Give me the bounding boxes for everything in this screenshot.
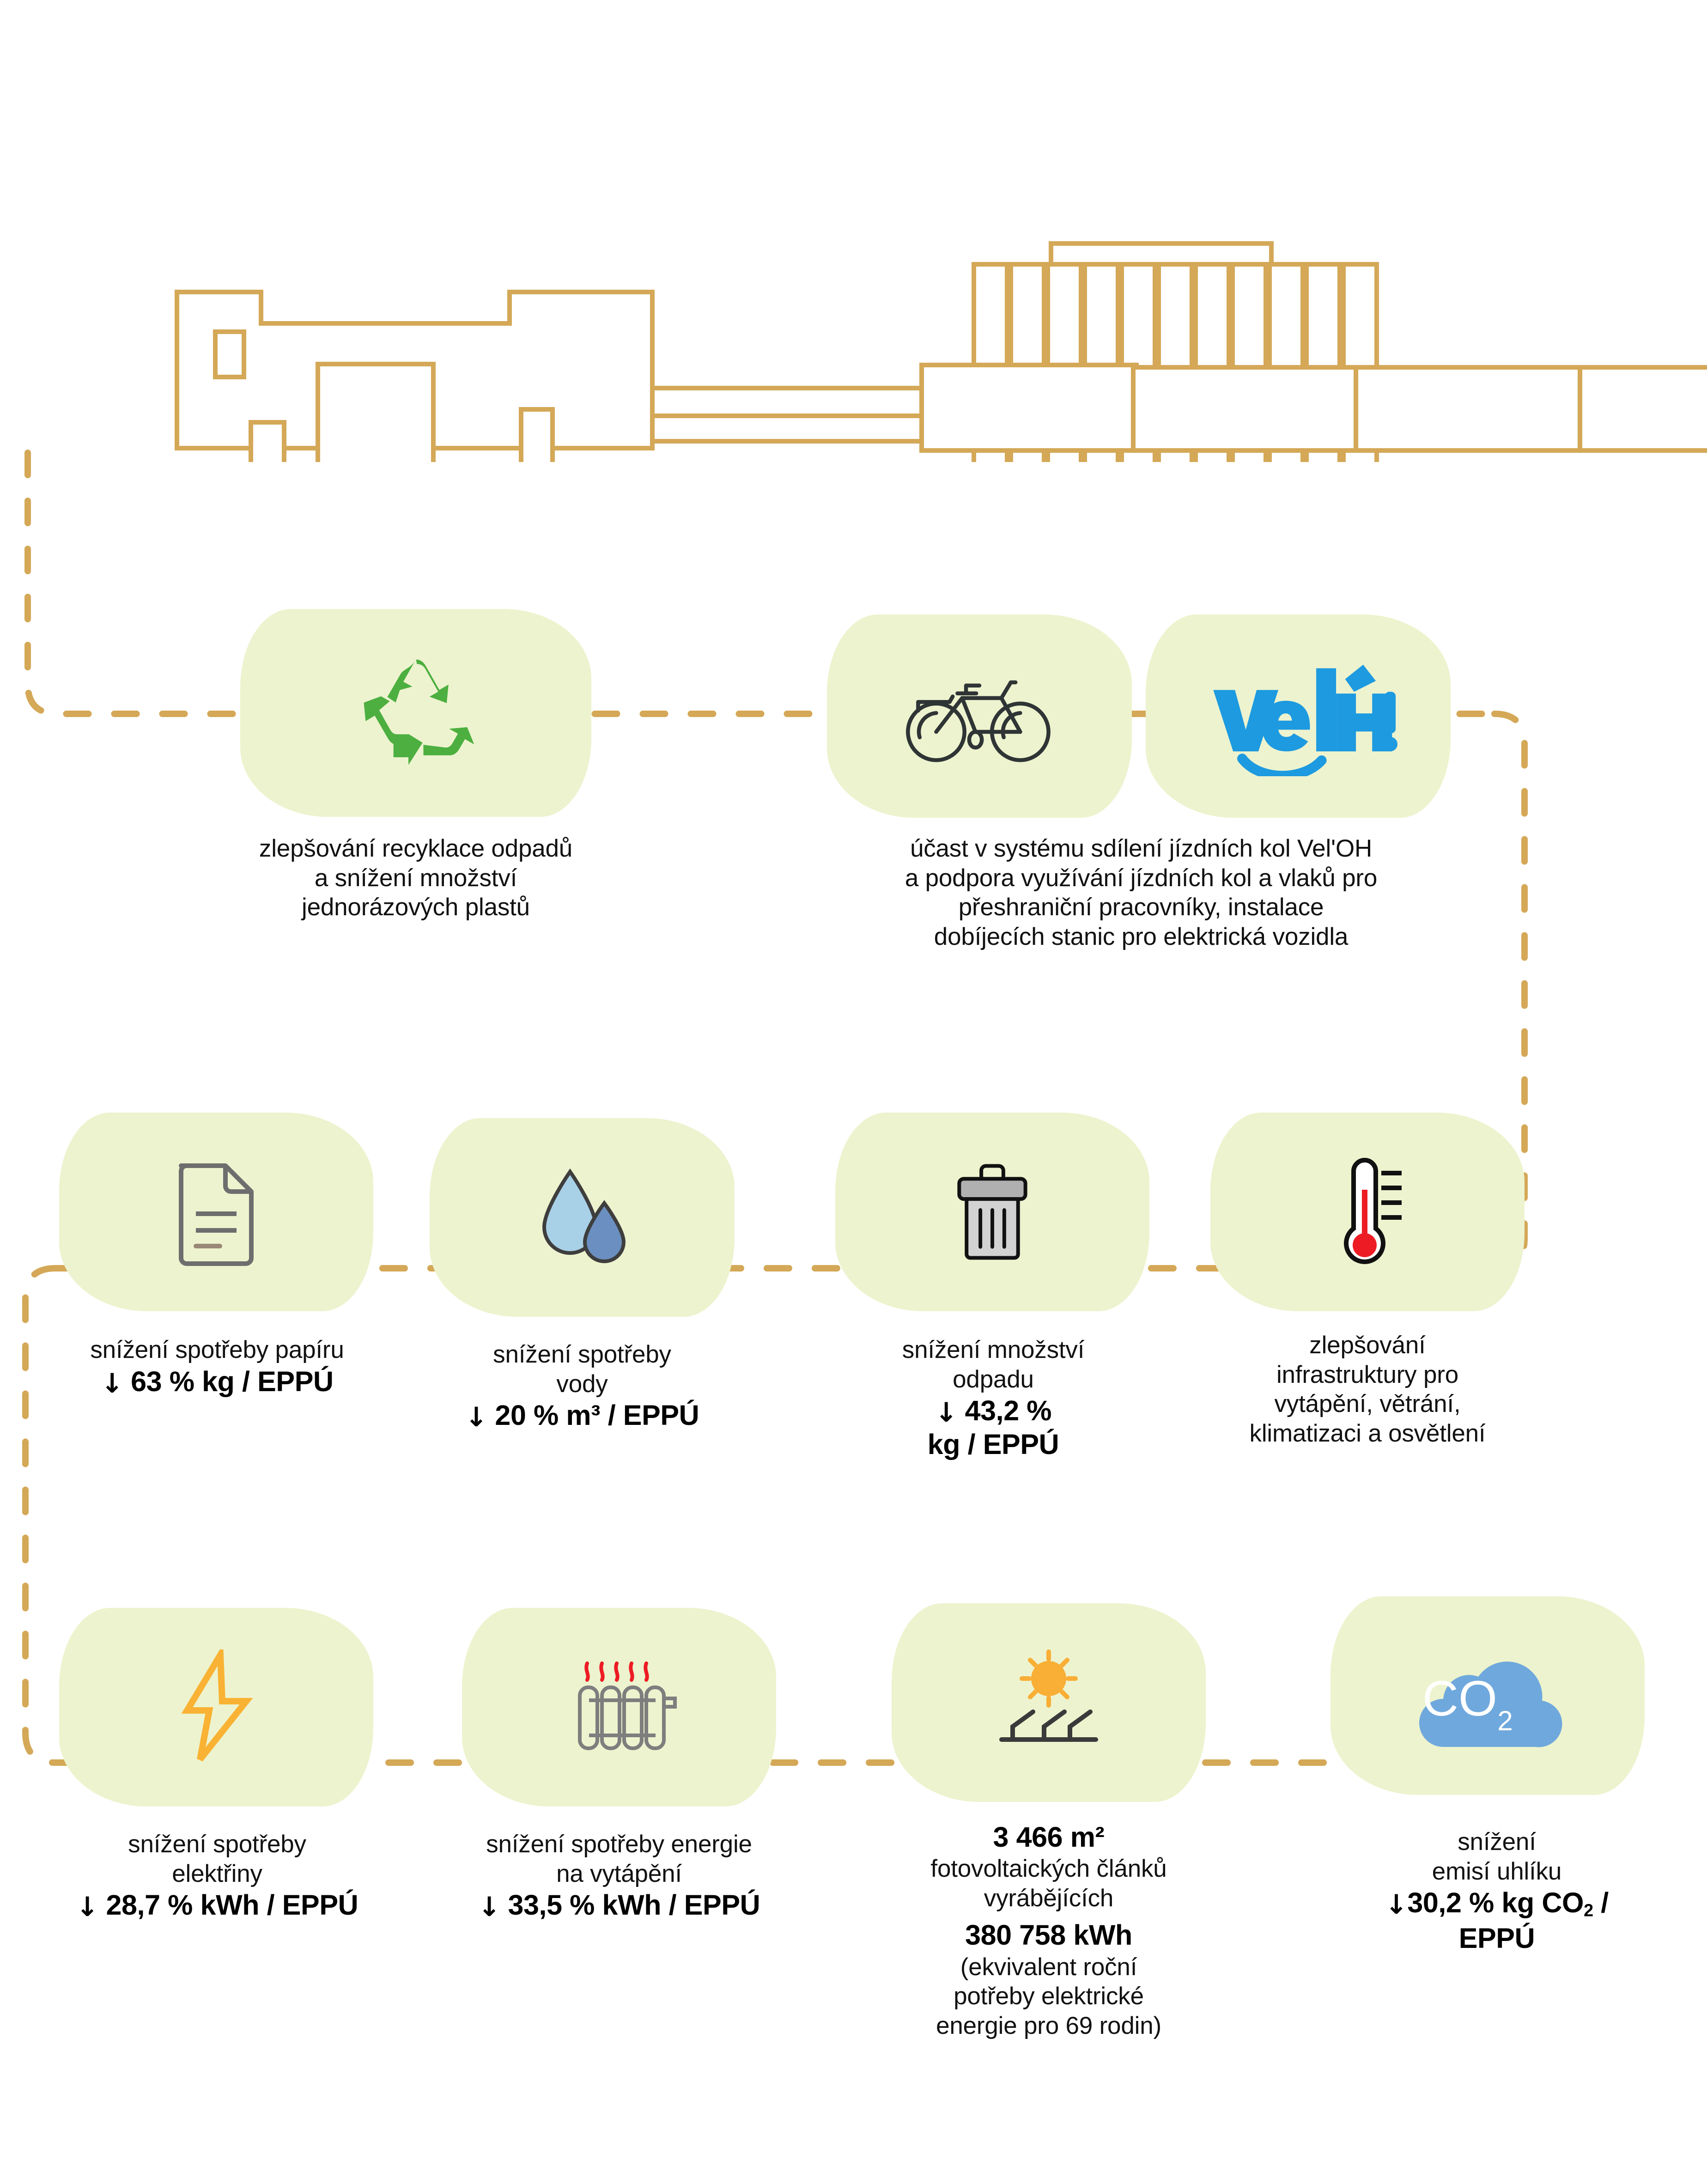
metric-text: 30,2 % kg CO (1407, 1887, 1584, 1918)
card-water[interactable] (430, 1118, 735, 1317)
caption-line: vody (407, 1369, 758, 1399)
caption-line: účast v systému sdílení jízdních kol Vel… (758, 834, 1525, 864)
card-hvac[interactable] (1210, 1113, 1525, 1311)
document-icon (170, 1156, 262, 1267)
co2-cloud-icon: CO 2 (1395, 1638, 1580, 1753)
metric-text: 28,7 % kWh / EPPÚ (106, 1889, 358, 1921)
solar-panel-icon (989, 1647, 1109, 1758)
card-solar[interactable] (892, 1603, 1206, 1802)
caption-line: odpadu (813, 1365, 1173, 1394)
lightning-bolt-icon (172, 1649, 260, 1765)
caption-line: a podpora využívání jízdních kol a vlaků… (758, 864, 1525, 893)
caption-line: zlepšování recyklace odpadů (148, 834, 684, 864)
metric-value-line2: kg / EPPÚ (813, 1428, 1173, 1461)
metric-value: ↓30,2 % kg CO2 / (1321, 1886, 1672, 1922)
down-arrow-icon: ↓ (76, 1891, 98, 1922)
metric-text: 20 % m³ / EPPÚ (495, 1399, 699, 1431)
card-paper[interactable] (59, 1113, 373, 1311)
card-electricity[interactable] (59, 1608, 373, 1807)
caption-line: elektřiny (0, 1859, 434, 1889)
skyline-artwork (0, 0, 1707, 462)
caption-line: emisí uhlíku (1321, 1857, 1672, 1886)
down-arrow-icon: ↓ (935, 1397, 957, 1428)
card-co2[interactable]: CO 2 (1330, 1596, 1645, 1795)
trash-bin-icon (950, 1162, 1035, 1262)
solar-energy-headline: 380 758 kWh (845, 1918, 1252, 1952)
caption-hvac: zlepšování infrastruktury pro vytápění, … (1183, 1331, 1552, 1448)
metric-value: ↓ 20 % m³ / EPPÚ (407, 1399, 758, 1432)
card-veloh[interactable] (1146, 614, 1451, 818)
caption-paper: snížení spotřeby papíru ↓ 63 % kg / EPPÚ (9, 1335, 425, 1399)
metric-value: ↓ 33,5 % kWh / EPPÚ (402, 1888, 836, 1922)
recycle-icon (346, 644, 485, 782)
solar-area-headline: 3 466 m² (845, 1820, 1252, 1854)
caption-electricity: snížení spotřeby elektřiny ↓ 28,7 % kWh … (0, 1830, 434, 1922)
caption-line: energie pro 69 rodin) (845, 2011, 1252, 2041)
caption-line: fotovoltaických článků (845, 1854, 1252, 1884)
caption-line: zlepšování (1183, 1331, 1552, 1360)
caption-line: snížení spotřeby papíru (9, 1335, 425, 1365)
down-arrow-icon: ↓ (1385, 1889, 1407, 1920)
caption-line: dobíjecích stanic pro elektrická vozidla (758, 922, 1525, 952)
metric-text: 43,2 % (965, 1395, 1052, 1426)
metric-value-line2: EPPÚ (1321, 1922, 1672, 1955)
infographic-page: zlepšování recyklace odpadů a snížení mn… (0, 0, 1707, 2184)
caption-line: potřeby elektrické (845, 1982, 1252, 2011)
metric-subscript: 2 (1584, 1901, 1593, 1921)
down-arrow-icon: ↓ (478, 1891, 500, 1922)
co2-subscript: 2 (1497, 1705, 1513, 1736)
caption-line: vytápění, větrání, (1183, 1389, 1552, 1419)
bicycle-icon (901, 663, 1058, 769)
metric-tail: / (1593, 1887, 1609, 1918)
caption-line: vyrábějících (845, 1884, 1252, 1913)
radiator-icon (561, 1654, 677, 1760)
caption-line: infrastruktury pro (1183, 1360, 1552, 1390)
card-bike[interactable] (827, 614, 1132, 818)
metric-value: ↓ 63 % kg / EPPÚ (9, 1365, 425, 1399)
caption-line: snížení spotřeby (407, 1340, 758, 1369)
metric-value: ↓ 28,7 % kWh / EPPÚ (0, 1888, 434, 1922)
spacer (845, 1913, 1252, 1918)
caption-solar: 3 466 m² fotovoltaických článků vyrábějí… (845, 1820, 1252, 2040)
card-heating[interactable] (462, 1608, 776, 1807)
metric-text: 63 % kg / EPPÚ (131, 1366, 334, 1397)
caption-line: snížení množství (813, 1335, 1173, 1365)
down-arrow-icon: ↓ (465, 1401, 487, 1433)
co2-label: CO (1422, 1670, 1497, 1726)
caption-co2: snížení emisí uhlíku ↓30,2 % kg CO2 / EP… (1321, 1827, 1672, 1955)
caption-water: snížení spotřeby vody ↓ 20 % m³ / EPPÚ (407, 1340, 758, 1432)
caption-recycling: zlepšování recyklace odpadů a snížení mn… (148, 834, 684, 922)
caption-line: (ekvivalent roční (845, 1953, 1252, 1982)
veloh-logo-icon (1199, 656, 1397, 776)
caption-heating: snížení spotřeby energie na vytápění ↓ 3… (402, 1830, 836, 1922)
caption-line: přeshraniční pracovníky, instalace (758, 893, 1525, 922)
caption-waste: snížení množství odpadu ↓ 43,2 % kg / EP… (813, 1335, 1173, 1462)
caption-veloh: účast v systému sdílení jízdních kol Vel… (758, 834, 1525, 951)
caption-line: na vytápění (402, 1859, 836, 1889)
down-arrow-icon: ↓ (101, 1368, 123, 1399)
thermometer-icon (1326, 1156, 1409, 1267)
caption-line: snížení (1321, 1827, 1672, 1857)
caption-line: a snížení množství (148, 864, 684, 893)
caption-line: jednorázových plastů (148, 893, 684, 922)
card-waste[interactable] (835, 1113, 1149, 1311)
caption-line: snížení spotřeby (0, 1830, 434, 1859)
water-drops-icon (531, 1164, 633, 1271)
metric-value: ↓ 43,2 % (813, 1394, 1173, 1428)
caption-line: snížení spotřeby energie (402, 1830, 836, 1859)
metric-text: 33,5 % kWh / EPPÚ (508, 1889, 760, 1921)
caption-line: klimatizaci a osvětlení (1183, 1419, 1552, 1448)
card-recycling[interactable] (240, 609, 591, 817)
